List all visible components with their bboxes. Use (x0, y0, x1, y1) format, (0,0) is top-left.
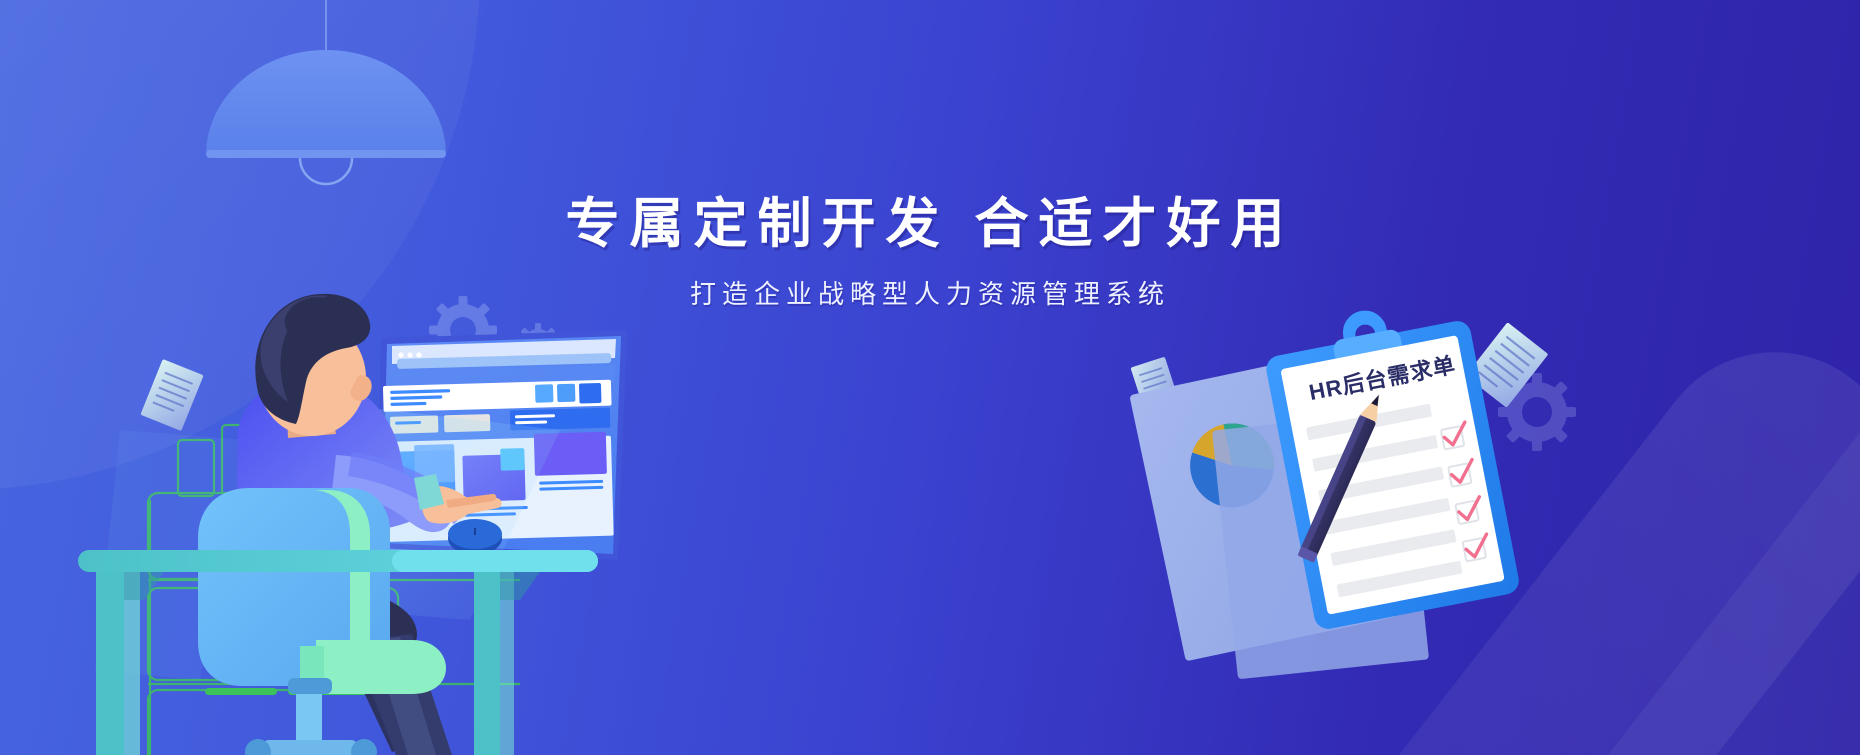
hero-copy: 专属定制开发 合适才好用 打造企业战略型人力资源管理系统 (0, 195, 1860, 311)
page-title: 专属定制开发 合适才好用 (0, 195, 1860, 254)
hero-banner: HR后台需求单 (0, 0, 1860, 755)
page-subtitle: 打造企业战略型人力资源管理系统 (0, 274, 1860, 311)
clipboard-illustration: HR后台需求单 (0, 0, 1860, 755)
